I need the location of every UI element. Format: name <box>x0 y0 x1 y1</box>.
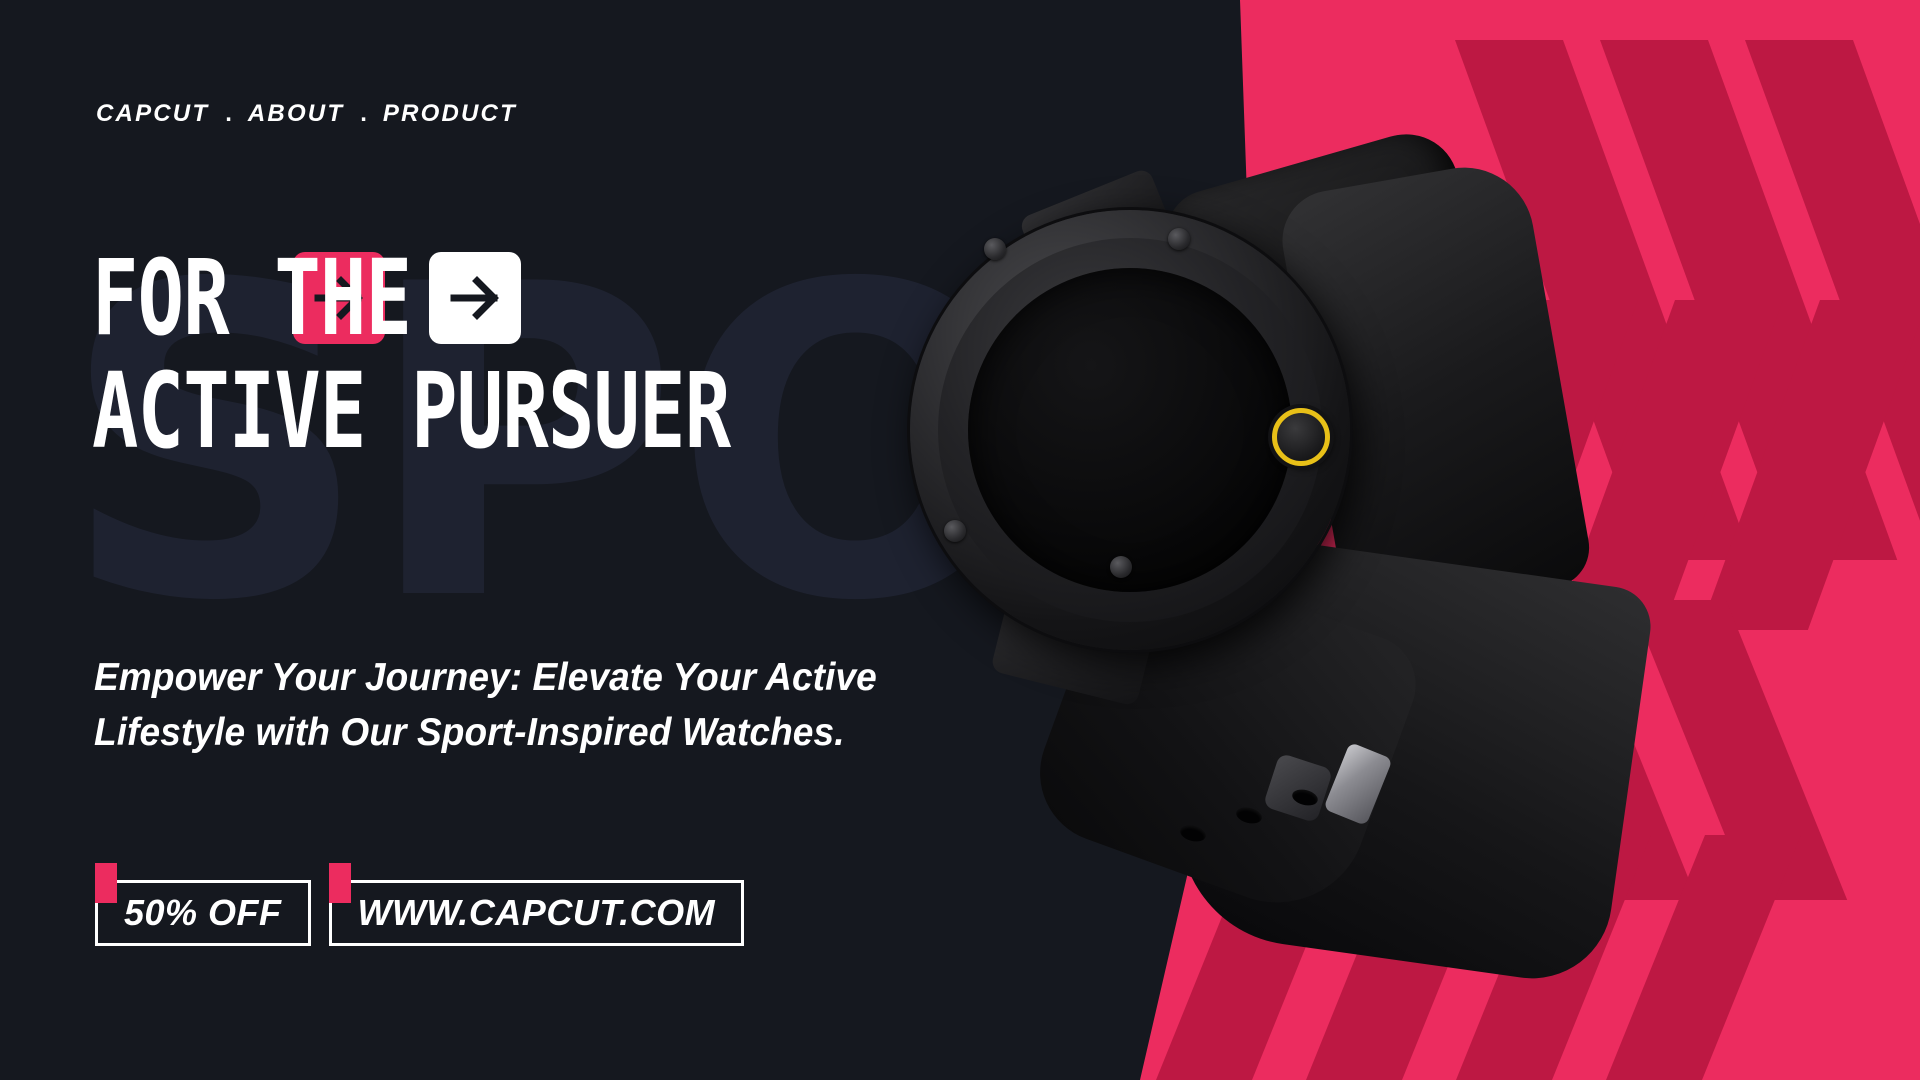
arrow-right-icon <box>446 269 504 327</box>
arrow-button-secondary[interactable] <box>429 252 521 344</box>
top-navigation[interactable]: CAPCUT . ABOUT . PRODUCT <box>96 100 517 128</box>
subheading-line-2: Lifestyle with Our Sport-Inspired Watche… <box>94 705 877 760</box>
headline-line-2: ACTIVE PURSUER <box>92 361 730 462</box>
cta-row: 50% OFF WWW.CAPCUT.COM <box>95 880 744 946</box>
website-label: WWW.CAPCUT.COM <box>358 892 716 934</box>
discount-label: 50% OFF <box>124 892 282 934</box>
nav-separator: . <box>209 100 248 128</box>
banner-canvas: SPO <box>0 0 1920 1080</box>
discount-badge[interactable]: 50% OFF <box>95 880 311 946</box>
watch-face-display <box>968 268 1292 592</box>
watch-screw <box>1168 228 1190 250</box>
subheading-line-1: Empower Your Journey: Elevate Your Activ… <box>94 650 877 705</box>
website-badge[interactable]: WWW.CAPCUT.COM <box>329 880 745 946</box>
watch-screw <box>984 238 1006 260</box>
nav-item-product[interactable]: PRODUCT <box>383 100 517 128</box>
product-image <box>880 120 1720 1000</box>
headline-block: FOR THE ACTIVE <box>92 248 955 462</box>
headline-line-1: FOR THE <box>92 248 411 349</box>
nav-item-capcut[interactable]: CAPCUT <box>96 100 209 128</box>
headline-row-1: FOR THE <box>92 248 955 349</box>
nav-separator: . <box>344 100 383 128</box>
watch-screw <box>1110 556 1132 578</box>
pink-tab-marker <box>329 863 351 903</box>
pink-tab-marker <box>95 863 117 903</box>
nav-item-about[interactable]: ABOUT <box>248 100 344 128</box>
watch-crown-button <box>1272 408 1330 466</box>
watch-screw <box>944 520 966 542</box>
subheading-block: Empower Your Journey: Elevate Your Activ… <box>94 650 877 761</box>
